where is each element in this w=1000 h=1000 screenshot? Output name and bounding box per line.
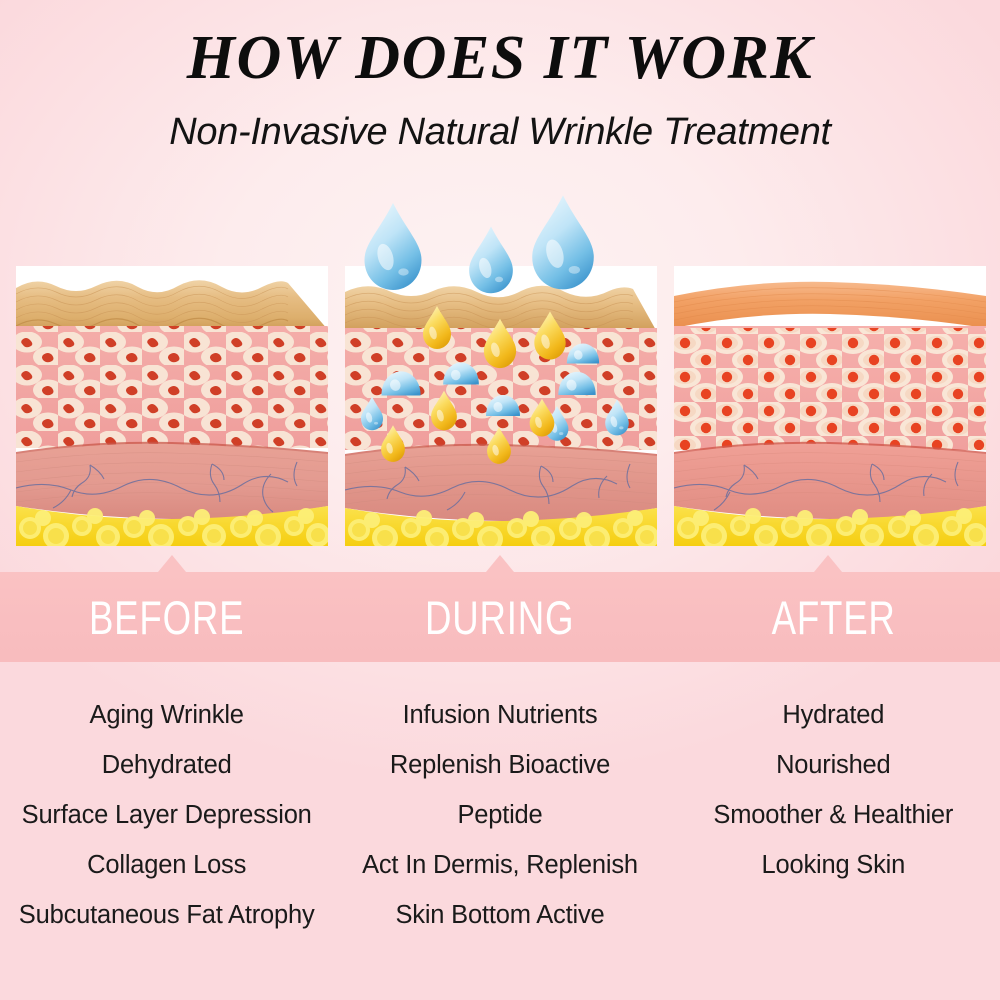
skin-cross-section-after: [674, 266, 986, 546]
stage-label-after: AFTER: [703, 594, 963, 641]
page-subtitle: Non-Invasive Natural Wrinkle Treatment: [0, 111, 1000, 154]
list-item: Collagen Loss: [87, 840, 246, 890]
list-item: Aging Wrinkle: [90, 690, 244, 740]
header: HOW DOES IT WORK Non-Invasive Natural Wr…: [0, 0, 1000, 154]
benefit-lists: Aging Wrinkle Dehydrated Surface Layer D…: [0, 690, 1000, 960]
benefit-list-before: Aging Wrinkle Dehydrated Surface Layer D…: [0, 690, 333, 960]
stage-label-during: DURING: [370, 594, 630, 641]
list-item: Looking Skin: [762, 840, 906, 890]
list-item: Skin Bottom Active: [395, 890, 604, 940]
after-illustration: [674, 266, 986, 546]
banner-notch-during: [486, 555, 514, 572]
list-item: Nourished: [776, 740, 890, 790]
skin-cross-section-before: [16, 266, 328, 546]
banner-notch-after: [814, 555, 842, 572]
benefit-list-after: Hydrated Nourished Smoother & Healthier …: [667, 690, 1000, 960]
stage-banner: BEFORE DURING AFTER: [0, 572, 1000, 662]
list-item: Hydrated: [782, 690, 884, 740]
infographic-page: HOW DOES IT WORK Non-Invasive Natural Wr…: [0, 0, 1000, 1000]
skin-panel-row: [16, 266, 984, 546]
stage-label-before: BEFORE: [37, 594, 297, 641]
benefit-list-during: Infusion Nutrients Replenish Bioactive P…: [333, 690, 666, 960]
before-illustration: [16, 266, 328, 546]
skin-cross-section-during: [345, 266, 657, 546]
list-item: Smoother & Healthier: [713, 790, 953, 840]
falling-droplets-group: [365, 195, 594, 293]
list-item: Act In Dermis, Replenish: [362, 840, 638, 890]
banner-notch-before: [158, 555, 186, 572]
list-item: Subcutaneous Fat Atrophy: [19, 890, 315, 940]
list-item: Infusion Nutrients: [403, 690, 598, 740]
list-item: Peptide: [457, 790, 542, 840]
list-item: Surface Layer Depression: [22, 790, 312, 840]
hypodermis-layer-before: [16, 444, 328, 519]
list-item: Replenish Bioactive: [390, 740, 610, 790]
list-item: Dehydrated: [102, 740, 232, 790]
hypodermis-layer-after: [674, 444, 986, 519]
page-title: HOW DOES IT WORK: [0, 26, 1000, 91]
during-illustration: [345, 266, 657, 546]
